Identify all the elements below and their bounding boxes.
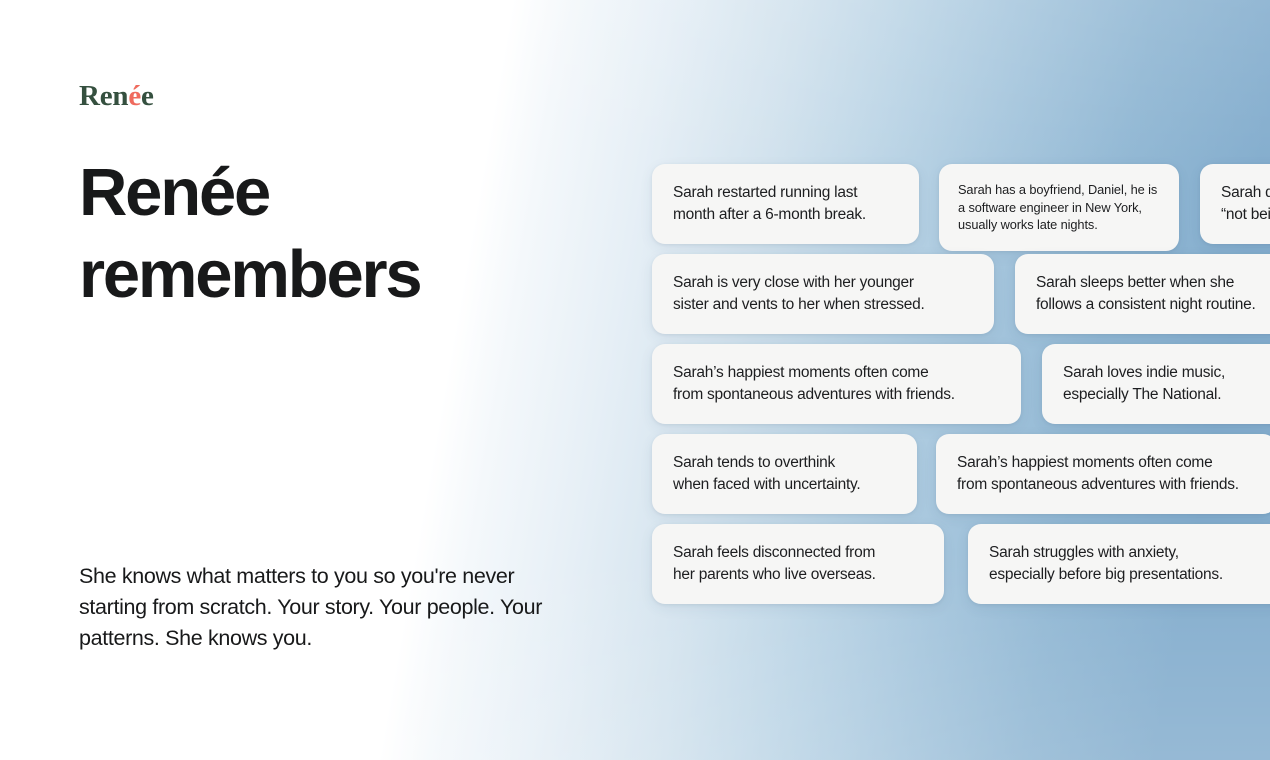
card-gap bbox=[994, 254, 1015, 255]
memory-row: Sarah is very close with her younger sis… bbox=[652, 254, 1270, 334]
memory-card-text: Sarah feels disconnected from her parent… bbox=[673, 542, 876, 586]
card-gap bbox=[917, 434, 936, 435]
memory-row: Sarah tends to overthink when faced with… bbox=[652, 434, 1270, 514]
memory-card-text: Sarah tends to overthink when faced with… bbox=[673, 452, 860, 496]
memory-card-text: Sarah struggles with anxiety, especially… bbox=[989, 542, 1223, 586]
memory-card-text: Sarah describes herself as “not being a … bbox=[1221, 182, 1270, 226]
memory-card-clipped[interactable]: Sarah struggles with anxiety, especially… bbox=[968, 524, 1270, 604]
memory-card-text: Sarah loves indie music, especially The … bbox=[1063, 362, 1225, 406]
memory-card[interactable]: Sarah has a boyfriend, Daniel, he is a s… bbox=[939, 164, 1179, 251]
memory-card-text: Sarah’s happiest moments often come from… bbox=[673, 362, 955, 406]
memory-row: Sarah feels disconnected from her parent… bbox=[652, 524, 1270, 604]
memory-card[interactable]: Sarah tends to overthink when faced with… bbox=[652, 434, 917, 514]
memory-card-clipped[interactable]: Sarah loves indie music, especially The … bbox=[1042, 344, 1270, 424]
memory-row: Sarah restarted running last month after… bbox=[652, 164, 1270, 251]
brand-logo-prefix: Ren bbox=[79, 80, 128, 112]
memory-card-text: Sarah’s happiest moments often come from… bbox=[957, 452, 1239, 496]
memory-card[interactable]: Sarah’s happiest moments often come from… bbox=[652, 344, 1021, 424]
memory-card[interactable]: Sarah feels disconnected from her parent… bbox=[652, 524, 944, 604]
memory-card-text: Sarah is very close with her younger sis… bbox=[673, 272, 925, 316]
memory-card-clipped[interactable]: Sarah’s happiest moments often come from… bbox=[936, 434, 1270, 514]
memory-card[interactable]: Sarah restarted running last month after… bbox=[652, 164, 919, 244]
memory-card-text: Sarah sleeps better when she follows a c… bbox=[1036, 272, 1256, 316]
brand-logo[interactable]: Renée bbox=[79, 82, 154, 111]
memory-card-text: Sarah restarted running last month after… bbox=[673, 182, 866, 226]
memory-row: Sarah’s happiest moments often come from… bbox=[652, 344, 1270, 424]
memory-card[interactable]: Sarah is very close with her younger sis… bbox=[652, 254, 994, 334]
memory-card-clipped[interactable]: Sarah describes herself as “not being a … bbox=[1200, 164, 1270, 244]
card-gap bbox=[1179, 164, 1200, 165]
landing-page: Renée Renée remembers She knows what mat… bbox=[0, 0, 1270, 760]
memory-card-text: Sarah has a boyfriend, Daniel, he is a s… bbox=[958, 181, 1157, 234]
memory-card-clipped[interactable]: Sarah sleeps better when she follows a c… bbox=[1015, 254, 1270, 334]
brand-logo-accent-letter: é bbox=[128, 80, 141, 112]
hero-subtitle: She knows what matters to you so you're … bbox=[79, 561, 579, 654]
page-title: Renée remembers bbox=[79, 152, 599, 316]
card-gap bbox=[919, 164, 939, 165]
card-gap bbox=[1021, 344, 1042, 345]
hero-left-column: Renée Renée remembers She knows what mat… bbox=[0, 0, 620, 760]
card-gap bbox=[944, 524, 968, 525]
brand-logo-suffix: e bbox=[141, 80, 154, 112]
